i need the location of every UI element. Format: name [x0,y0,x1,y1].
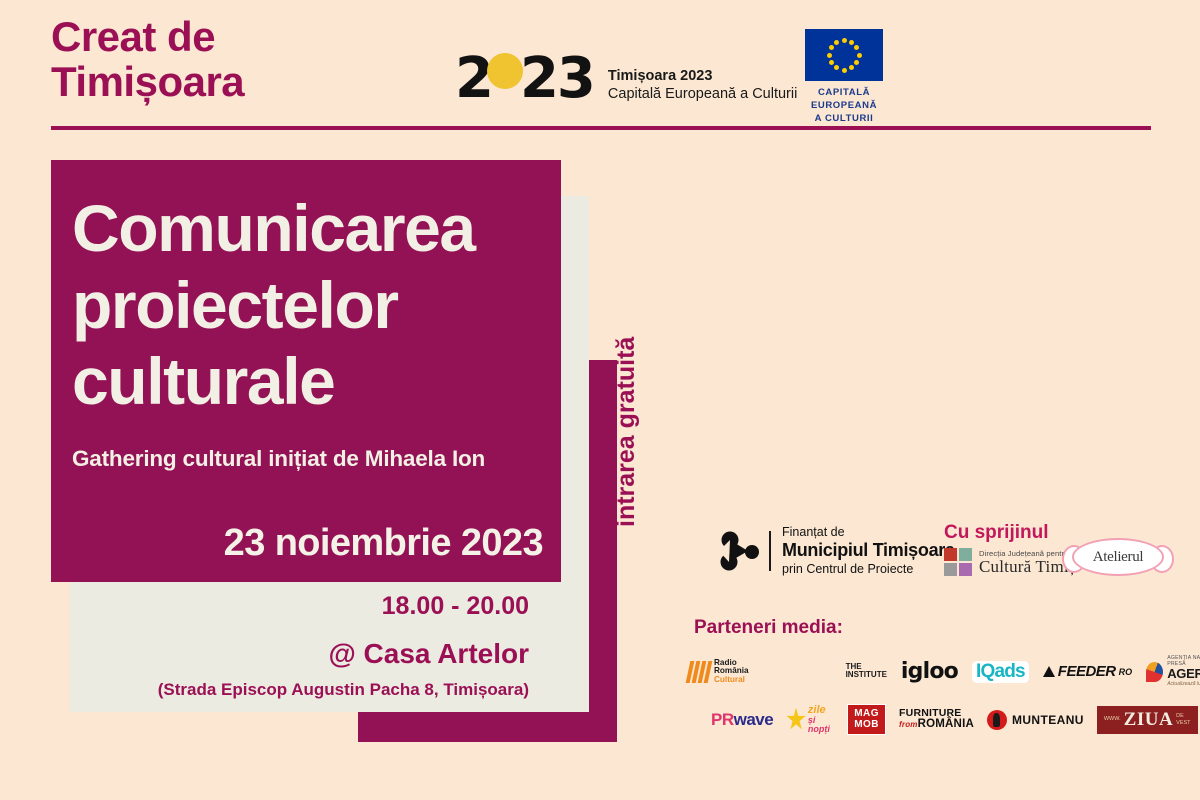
logo-digit-2: 2 [455,53,493,105]
media-partners-row-2: PRwave zile și nopți MAG MOB FURNITURE f… [711,703,1189,736]
eu-star-icon [829,45,834,50]
event-title-line2: proiectelor [72,267,542,344]
logo-caption: Timișoara 2023 Capitală Europeană a Cult… [608,67,797,105]
agerpres-text: AGENȚIA NAȚIONALĂ DE PRESĂ AGERPRES Actu… [1167,656,1200,687]
feeder-suffix: RO [1119,667,1133,677]
creat-de-line2: Timișoara [51,59,471,104]
media-logo-agerpres: AGENȚIA NAȚIONALĂ DE PRESĂ AGERPRES Actu… [1146,656,1200,687]
funded-by-line1: Finanțat de [782,525,955,540]
ziua-name: ZIUA [1124,709,1174,731]
magmob-line2: MOB [854,720,879,730]
eu-caption: CAPITALĂ EUROPEANĂ A CULTURII [785,87,903,125]
munteanu-mark-icon [987,710,1007,730]
atelierul-label: Atelierul [1093,549,1144,566]
prwave-wave: wave [734,710,774,729]
eu-star-icon [834,65,839,70]
media-logo-munteanu: MUNTEANU [987,710,1084,730]
atelierul-logo: Atelierul [1072,538,1164,576]
eu-caption-line1: CAPITALĂ EUROPEANĂ [785,87,903,113]
furniture-romania: ROMÂNIA [918,718,974,730]
agerpres-line2: AGERPRES [1167,667,1200,681]
eu-star-icon [829,60,834,65]
eu-star-icon [842,38,847,43]
logo-caption-line2: Capitală Europeană a Culturii [608,85,797,103]
media-logo-prwave: PRwave [711,710,773,730]
event-title: Comunicarea proiectelor culturale [72,190,542,420]
media-logo-ziua-de-vest: WWW. ZIUA DE VEST [1097,706,1198,734]
eu-capital-of-culture-logo: CAPITALĂ EUROPEANĂ A CULTURII [785,29,903,125]
furniture-from: from [899,720,918,729]
media-partners-label: Parteneri media: [694,617,843,639]
event-title-line1: Comunicarea [72,190,542,267]
timisoara-2023-logo: 2 23 Timișoara 2023 Capitală Europeană a… [455,47,797,105]
event-date: 23 noiembrie 2023 [51,522,543,565]
logo-yellow-dot-icon [487,53,523,89]
media-logo-magmob: MAG MOB [847,704,886,734]
media-logo-feeder-ro: FEEDER RO [1043,663,1132,680]
star-icon [786,708,806,732]
centrul-de-proiecte-icon [718,531,760,571]
media-logo-igloo: igloo [901,659,958,684]
cultura-timis-logo: Direcția Județeană pentru Cultură Timiș [944,548,1076,576]
eu-star-icon [854,45,859,50]
radio-romania-cultural-text: Radio România Cultural [714,659,749,685]
eu-star-icon [827,53,832,58]
eu-caption-line2: A CULTURII [785,113,903,126]
eu-star-icon [854,60,859,65]
creat-de-line1: Creat de [51,14,471,59]
feeder-triangle-icon [1043,666,1055,677]
ziua-suffix: DE VEST [1176,713,1190,725]
furniture-line2: fromROMÂNIA [899,719,974,731]
eu-flag-icon [805,29,883,81]
media-logo-the-institute: THE INSTITUTE [763,663,887,681]
free-entry-label: intrarea gratuită [612,337,641,527]
eu-star-icon [842,68,847,73]
eu-star-icon [857,53,862,58]
event-address: (Strada Episcop Augustin Pacha 8, Timișo… [51,680,529,700]
header-divider [51,126,1151,130]
logo-divider [769,531,771,571]
zile-line2: și nopți [808,716,834,734]
eu-star-icon [849,65,854,70]
media-partners-row-1: Radio România Cultural THE INSTITUTE igl… [688,656,1188,687]
magmob-line1: MAG [854,709,879,719]
agerpres-line3: Actualizează lumea. [1167,682,1200,688]
logo-caption-line1: Timișoara 2023 [608,67,797,85]
event-title-line3: culturale [72,343,542,420]
event-venue: @ Casa Artelor [51,638,529,670]
institute-line2: INSTITUTE [846,671,887,679]
feeder-name: FEEDER [1058,663,1116,680]
event-time: 18.00 - 20.00 [51,592,529,621]
prwave-pr: PR [711,710,734,729]
funded-by-line3: prin Centrul de Proiecte [782,562,955,577]
media-logo-zile-si-nopti: zile și nopți [786,705,834,734]
media-logo-furniture-from-romania: FURNITURE fromROMÂNIA [899,708,974,730]
funded-by-logo: Finanțat de Municipiul Timișoara prin Ce… [718,525,955,577]
the-institute-text: THE INSTITUTE [846,663,887,681]
agerpres-fan-icon [1146,662,1163,682]
creat-de-heading: Creat de Timișoara [51,14,471,105]
logo-digit-23: 23 [520,53,594,105]
funded-by-text: Finanțat de Municipiul Timișoara prin Ce… [782,525,955,577]
munteanu-name: MUNTEANU [1012,713,1084,727]
rrc-line3: Cultural [714,676,749,685]
zile-si-nopti-text: zile și nopți [808,705,834,734]
cultura-timis-squares-icon [944,548,972,576]
ziua-prefix: WWW. [1104,716,1121,722]
magenta-bottom-bar [358,712,617,742]
event-subtitle: Gathering cultural inițiat de Mihaela Io… [72,446,552,472]
eu-star-icon [849,40,854,45]
eu-star-icon [834,40,839,45]
media-logo-iqads: IQads [972,661,1029,683]
poster-canvas: Creat de Timișoara 2 23 Timișoara 2023 C… [0,0,1200,800]
with-support-label: Cu sprijinul [944,522,1049,544]
cultura-timis-text: Direcția Județeană pentru Cultură Timiș [979,549,1076,576]
funded-by-line2: Municipiul Timișoara [782,540,955,562]
radio-bars-icon [686,661,713,683]
media-logo-radio-romania-cultural: Radio România Cultural [688,659,749,685]
